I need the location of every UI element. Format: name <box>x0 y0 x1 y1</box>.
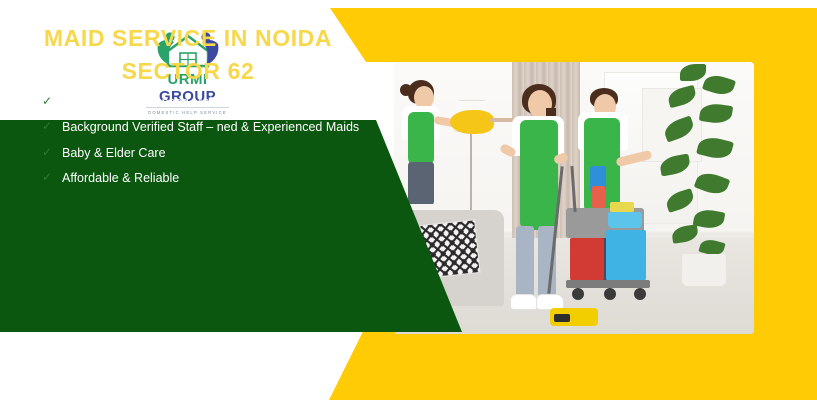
detergent-bottle <box>592 186 605 208</box>
list-item-label: Baby & Elder Care <box>62 146 166 160</box>
blue-bucket <box>606 230 646 282</box>
check-icon: ✓ <box>42 118 52 135</box>
headline-line-1: MAID SERVICE IN NOIDA <box>14 22 362 55</box>
list-item-label: Affordable & Reliable <box>62 171 179 185</box>
list-item: ✓ Trained & Experienced Maids <box>62 92 392 112</box>
check-icon: ✓ <box>42 144 52 161</box>
headline-line-2: SECTOR 62 <box>14 55 362 88</box>
promotional-banner: MAID SERVICE IN NOIDA SECTOR 62 ✓ Traine… <box>0 0 817 408</box>
list-item: ✓ Background Verified Staff – ned & Expe… <box>62 117 392 137</box>
list-item-label: Background Verified Staff – ned & Experi… <box>62 120 359 134</box>
page-title: MAID SERVICE IN NOIDA SECTOR 62 <box>0 22 376 87</box>
feature-list: ✓ Trained & Experienced Maids ✓ Backgrou… <box>62 92 392 193</box>
check-icon: ✓ <box>42 169 52 186</box>
sponge <box>610 202 634 212</box>
list-item-label: Trained & Experienced Maids <box>62 95 226 109</box>
potted-plant <box>642 62 754 294</box>
list-item: ✓ Affordable & Reliable <box>62 168 392 188</box>
photo-scene <box>394 62 754 334</box>
cleaning-team-photo <box>394 62 754 334</box>
check-icon: ✓ <box>42 93 52 110</box>
blue-tray <box>608 212 642 228</box>
list-item: ✓ Baby & Elder Care <box>62 143 392 163</box>
red-bucket <box>570 238 604 282</box>
